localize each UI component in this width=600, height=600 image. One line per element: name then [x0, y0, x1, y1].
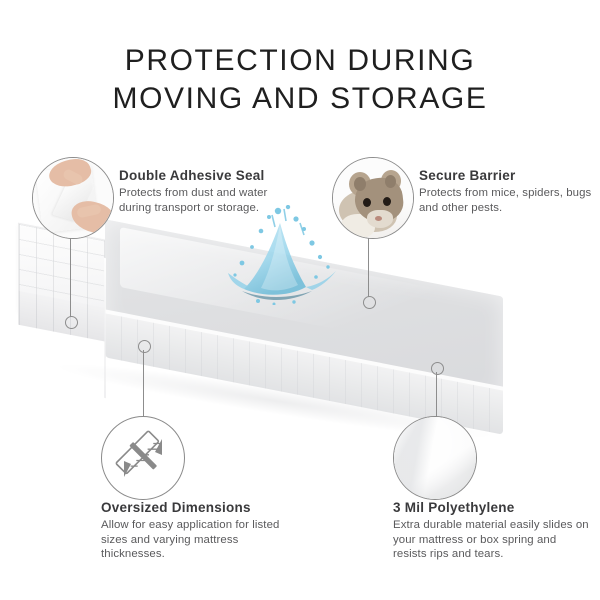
feature-image-3-mil-polyethylene [393, 416, 477, 500]
connector-endpoint-adhesive [65, 316, 78, 329]
ruler-with-double-arrow-icon [102, 417, 182, 497]
connector-line-barrier [368, 237, 369, 297]
feature-text-oversized-dimensions: Oversized Dimensions Allow for easy appl… [101, 500, 301, 562]
page-title: PROTECTION DURING MOVING AND STORAGE [0, 42, 600, 118]
connector-endpoint-polyethylene [431, 362, 444, 375]
mouse-nose [375, 216, 382, 221]
feature-image-oversized-dimensions [101, 416, 185, 500]
mouse-eye-right [383, 197, 391, 206]
connector-endpoint-barrier [363, 296, 376, 309]
title-line-1: PROTECTION DURING [0, 42, 600, 80]
feature-body: Allow for easy application for listed si… [101, 518, 301, 562]
mouse-inner-ear-left [354, 177, 366, 191]
feature-body: Extra durable material easily slides on … [393, 518, 593, 562]
feature-heading: 3 Mil Polyethylene [393, 500, 593, 515]
feature-heading: Secure Barrier [419, 168, 594, 183]
feature-body: Protects from mice, spiders, bugs and ot… [419, 186, 594, 215]
connector-line-polyethylene [436, 372, 437, 418]
connector-endpoint-dimensions [138, 340, 151, 353]
feature-body: Protects from dust and water during tran… [119, 186, 299, 215]
mouse-eye-left [363, 198, 371, 207]
feature-heading: Double Adhesive Seal [119, 168, 299, 183]
plastic-sheet-highlights [394, 417, 476, 499]
feature-text-double-adhesive-seal: Double Adhesive Seal Protects from dust … [119, 168, 299, 215]
plastic-bag-fold-line [104, 258, 106, 398]
feature-heading: Oversized Dimensions [101, 500, 301, 515]
connector-line-adhesive [70, 237, 71, 317]
connector-line-dimensions [143, 350, 144, 418]
infographic-canvas: PROTECTION DURING MOVING AND STORAGE [0, 0, 600, 600]
title-line-2: MOVING AND STORAGE [0, 80, 600, 118]
feature-image-double-adhesive-seal [32, 157, 114, 239]
feature-text-secure-barrier: Secure Barrier Protects from mice, spide… [419, 168, 594, 215]
water-splash-icon [228, 205, 340, 305]
mouse-inner-ear-right [385, 175, 396, 188]
feature-image-secure-barrier [332, 157, 414, 239]
feature-text-3-mil-polyethylene: 3 Mil Polyethylene Extra durable materia… [393, 500, 593, 562]
